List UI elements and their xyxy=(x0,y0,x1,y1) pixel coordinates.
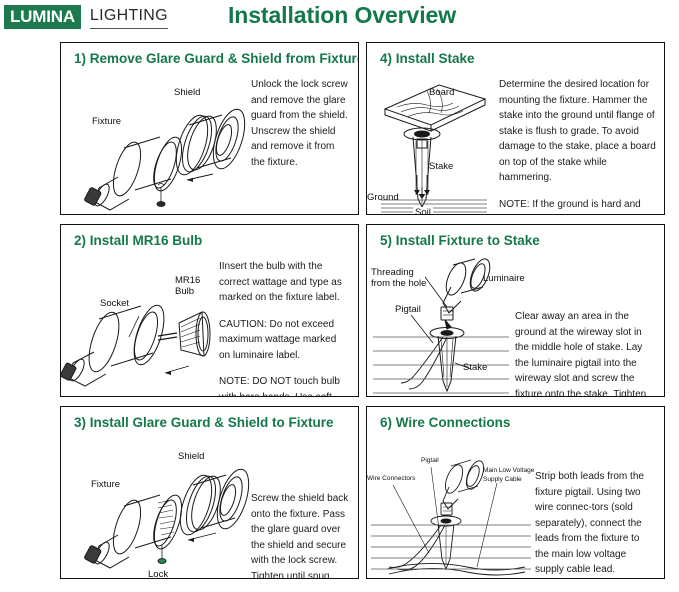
figure-label-from-the-hole: from the hole xyxy=(371,278,426,289)
figure-label-wire-connectors: Wire Connectors xyxy=(367,475,415,483)
page-title: Installation Overview xyxy=(228,2,456,29)
copy-note: NOTE: If the ground is hard and the stak… xyxy=(499,197,656,216)
figure-install-glare-guard: Fixture Shield Lock Screw xyxy=(61,439,251,578)
figure-install-stake: Board Stake Ground Soil xyxy=(367,71,499,214)
panel-title: 3) Install Glare Guard & Shield to Fixtu… xyxy=(74,415,334,430)
copy-paragraph: Strip both leads from the fixture pigtai… xyxy=(535,469,656,578)
figure-label-lock: Lock xyxy=(147,213,167,215)
figure-wire-connections: Wire Connectors Pigtail Main Low Voltage… xyxy=(367,443,535,578)
figure-label-mr16: MR16 xyxy=(175,275,200,286)
panel-title: 6) Wire Connections xyxy=(380,415,510,430)
panel-install-glare-guard: 3) Install Glare Guard & Shield to Fixtu… xyxy=(60,406,359,579)
figure-remove-glare-guard: Fixture Shield Lock Screw xyxy=(61,71,251,214)
panel-copy: Determine the desired location for mount… xyxy=(499,71,664,214)
panel-body: Threading from the hole Luminaire Pigtai… xyxy=(367,251,664,396)
panel-install-fixture-to-stake: Threading from the hole Luminaire Pigtai… xyxy=(366,224,665,397)
panel-title: 5) Install Fixture to Stake xyxy=(380,233,540,248)
logo-mark-lumina: LUMINA xyxy=(4,5,81,29)
figure-label-bulb: Bulb xyxy=(175,286,194,297)
diagram-wire-connectors-supply-cable xyxy=(367,443,535,579)
figure-label-stake: Stake xyxy=(463,362,487,373)
figure-label-board: Board xyxy=(429,87,454,98)
figure-label-ground: Ground xyxy=(367,192,399,203)
copy-paragraph: Determine the desired location for mount… xyxy=(499,77,656,186)
panel-wire-connections: 6) Wire Connections xyxy=(366,406,665,579)
page-header: LUMINA LIGHTING Installation Overview xyxy=(0,0,679,38)
panel-body: Fixture Shield Lock Screw Screw the shie… xyxy=(61,439,358,578)
panel-body: Socket MR16 Bulb IInsert the bulb with t… xyxy=(61,253,358,396)
diagram-fixture-shield-exploded xyxy=(61,71,251,215)
panel-copy: Clear away an area in the ground at the … xyxy=(515,251,664,396)
panel-copy: Unlock the lock screw and remove the gla… xyxy=(251,71,358,214)
figure-label-fixture: Fixture xyxy=(92,116,121,127)
figure-label-pigtail: Pigtail xyxy=(421,457,439,465)
panel-remove-glare-guard: 1) Remove Glare Guard & Shield from Fixt… xyxy=(60,42,359,215)
diagram-shield-onto-fixture xyxy=(61,439,251,579)
logo-underline xyxy=(90,28,168,29)
figure-label-luminaire: Luminaire xyxy=(483,273,525,284)
figure-label-shield: Shield xyxy=(178,451,204,462)
copy-caution: CAUTION: Do not exceed maximum wattage m… xyxy=(219,317,350,364)
copy-note: NOTE: DO NOT touch bulb with bare hands.… xyxy=(219,374,350,397)
panel-body: Wire Connectors Pigtail Main Low Voltage… xyxy=(367,443,664,578)
instruction-panel-grid: 1) Remove Glare Guard & Shield from Fixt… xyxy=(60,42,672,588)
figure-label-shield: Shield xyxy=(174,87,200,98)
figure-label-socket: Socket xyxy=(100,298,129,309)
figure-label-main-low-voltage: Main Low Voltage xyxy=(483,467,534,475)
panel-title: 2) Install MR16 Bulb xyxy=(74,233,202,248)
panel-body: Fixture Shield Lock Screw Unlock the loc… xyxy=(61,71,358,214)
panel-install-stake: 4) Install Stake xyxy=(366,42,665,215)
figure-label-threading: Threading xyxy=(371,267,414,278)
figure-label-lock: Lock xyxy=(148,569,168,579)
copy-paragraph: Screw the shield back onto the fixture. … xyxy=(251,491,350,579)
figure-label-supply-cable: Supply Cable xyxy=(483,476,522,484)
logo-word-lighting: LIGHTING xyxy=(90,6,168,26)
panel-install-mr16-bulb: 2) Install MR16 Bulb xyxy=(60,224,359,397)
logo-word-wrap: LIGHTING xyxy=(90,5,168,29)
panel-copy: Strip both leads from the fixture pigtai… xyxy=(535,443,664,578)
brand-logo: LUMINA LIGHTING xyxy=(4,5,168,29)
panel-title: 4) Install Stake xyxy=(380,51,475,66)
copy-paragraph: IInsert the bulb with the correct wattag… xyxy=(219,259,350,306)
panel-copy: IInsert the bulb with the correct wattag… xyxy=(219,253,358,396)
figure-label-stake: Stake xyxy=(429,161,453,172)
copy-paragraph: Unlock the lock screw and remove the gla… xyxy=(251,77,350,170)
figure-fixture-to-stake: Threading from the hole Luminaire Pigtai… xyxy=(367,251,515,396)
panel-copy: Screw the shield back onto the fixture. … xyxy=(251,439,358,578)
figure-label-fixture: Fixture xyxy=(91,479,120,490)
figure-install-bulb: Socket MR16 Bulb xyxy=(61,253,219,396)
panel-title: 1) Remove Glare Guard & Shield from Fixt… xyxy=(74,51,359,66)
panel-body: Board Stake Ground Soil Determine the de… xyxy=(367,71,664,214)
copy-paragraph: Clear away an area in the ground at the … xyxy=(515,309,656,397)
figure-label-pigtail: Pigtail xyxy=(395,304,421,315)
figure-label-soil: Soil xyxy=(413,207,433,215)
